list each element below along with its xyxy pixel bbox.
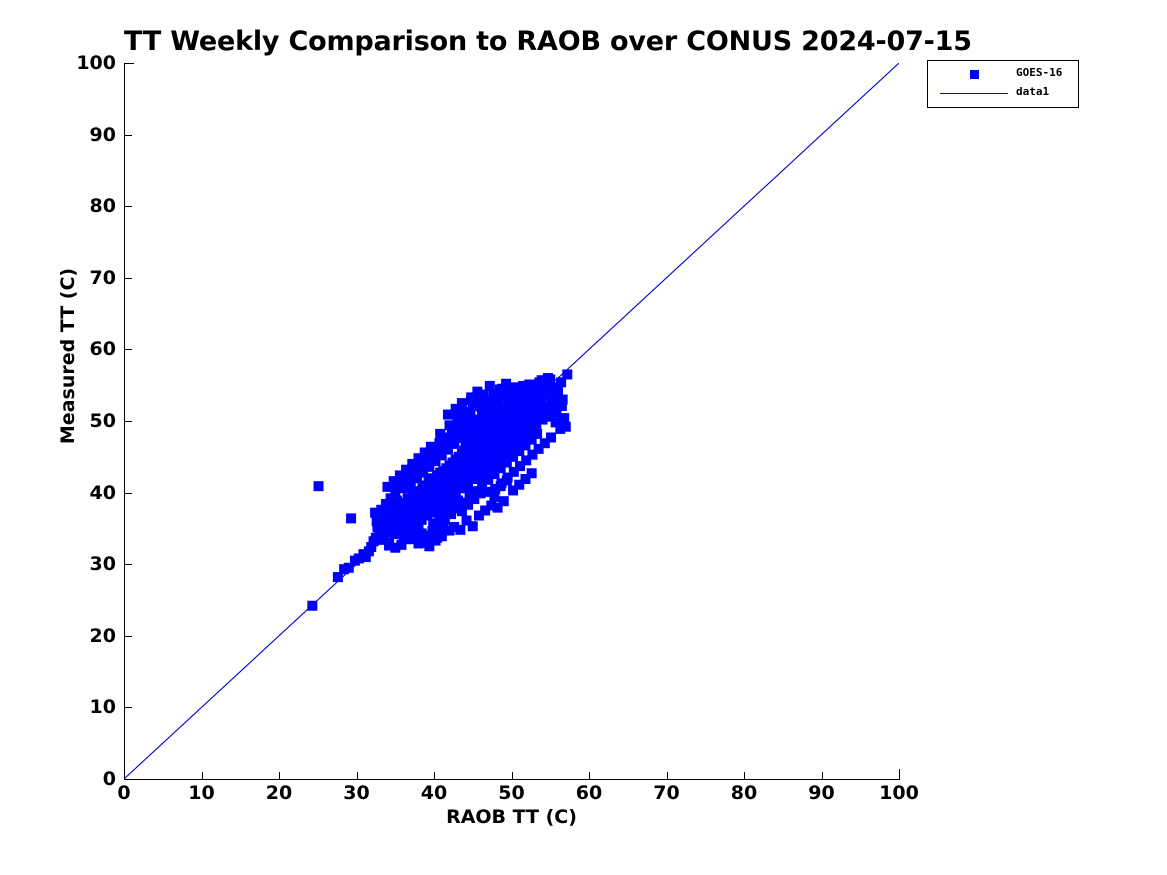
y-tick (125, 564, 132, 565)
x-tick (899, 772, 900, 779)
scatter-point (468, 521, 478, 531)
scatter-point (424, 541, 434, 551)
scatter-point (546, 432, 556, 442)
y-tick (125, 707, 132, 708)
x-tick (512, 772, 513, 779)
x-tick-label: 30 (343, 782, 369, 804)
y-tick (125, 135, 132, 136)
scatter-point (407, 534, 417, 544)
scatter-point (422, 510, 432, 520)
y-tick-label: 10 (68, 696, 116, 718)
x-tick-label: 40 (421, 782, 447, 804)
legend-label-data1: data1 (1016, 85, 1076, 98)
scatter-point (502, 475, 512, 485)
x-tick-label: 0 (117, 782, 130, 804)
scatter-point (384, 541, 394, 551)
legend-line-sample (928, 83, 1020, 103)
scatter-point (534, 394, 544, 404)
scatter-point (562, 369, 572, 379)
scatter-point (346, 513, 356, 523)
x-tick (744, 772, 745, 779)
scatter-point (512, 388, 522, 398)
legend-label-goes16: GOES-16 (1016, 66, 1076, 79)
x-tick (124, 772, 125, 779)
y-tick (125, 636, 132, 637)
scatter-point (499, 496, 509, 506)
y-tick-label: 40 (68, 482, 116, 504)
x-tick (202, 772, 203, 779)
scatter-point (485, 381, 495, 391)
line-segment-icon (940, 93, 1008, 94)
scatter-point (370, 508, 380, 518)
scatter-point (489, 492, 499, 502)
x-tick-label: 80 (731, 782, 757, 804)
x-tick-label: 20 (266, 782, 292, 804)
scatter-point (404, 498, 414, 508)
legend[interactable]: GOES-16 data1 (927, 60, 1079, 108)
scatter-point (307, 601, 317, 611)
y-tick (125, 421, 132, 422)
scatter-point (537, 375, 547, 385)
scatter-point (468, 470, 478, 480)
page-title: TT Weekly Comparison to RAOB over CONUS … (124, 26, 924, 57)
scatter-point (462, 445, 472, 455)
x-axis-line (124, 779, 900, 780)
x-tick-label: 90 (808, 782, 834, 804)
x-tick-label: 60 (576, 782, 602, 804)
y-tick (125, 278, 132, 279)
scatter-point (398, 508, 408, 518)
y-tick (125, 779, 132, 780)
scatter-point (443, 410, 453, 420)
square-marker-icon (970, 70, 979, 79)
scatter-point (429, 524, 439, 534)
y-tick (125, 63, 132, 64)
x-tick (279, 772, 280, 779)
y-axis-label: Measured TT (C) (57, 246, 79, 466)
x-tick (822, 772, 823, 779)
y-tick-label: 90 (68, 124, 116, 146)
legend-item-data1[interactable]: data1 (928, 83, 1078, 103)
y-tick-label: 0 (68, 768, 116, 790)
scatter-point (485, 401, 495, 411)
scatter-point (455, 525, 465, 535)
scatter-point (548, 402, 558, 412)
scatter-point (314, 481, 324, 491)
x-tick (589, 772, 590, 779)
y-tick-label: 30 (68, 553, 116, 575)
y-tick-label: 20 (68, 625, 116, 647)
x-tick (434, 772, 435, 779)
x-tick-label: 100 (879, 782, 919, 804)
y-tick-label: 80 (68, 195, 116, 217)
scatter-point (527, 468, 537, 478)
scatter-point (455, 480, 465, 490)
scatter-point (378, 531, 388, 541)
x-tick (667, 772, 668, 779)
scatter-point (557, 401, 567, 411)
scatter-point (417, 528, 427, 538)
scatter-series-goes-16 (307, 369, 572, 610)
scatter-point (552, 384, 562, 394)
x-tick (357, 772, 358, 779)
y-tick-label: 100 (68, 52, 116, 74)
x-tick-label: 10 (188, 782, 214, 804)
scatter-point (372, 516, 382, 526)
scatter-point (497, 402, 507, 412)
scatter-point (547, 394, 557, 404)
x-tick-label: 70 (653, 782, 679, 804)
scatter-point (559, 413, 569, 423)
scatter-point (506, 404, 516, 414)
x-tick-label: 50 (498, 782, 524, 804)
x-axis-label: RAOB TT (C) (124, 806, 899, 828)
scatter-canvas (124, 63, 899, 779)
legend-marker-sample (928, 64, 1020, 84)
scatter-point (516, 414, 526, 424)
y-tick (125, 206, 132, 207)
y-tick (125, 349, 132, 350)
legend-item-goes16[interactable]: GOES-16 (928, 64, 1078, 84)
y-tick (125, 493, 132, 494)
scatter-point (380, 523, 390, 533)
chart-figure: TT Weekly Comparison to RAOB over CONUS … (0, 0, 1167, 875)
